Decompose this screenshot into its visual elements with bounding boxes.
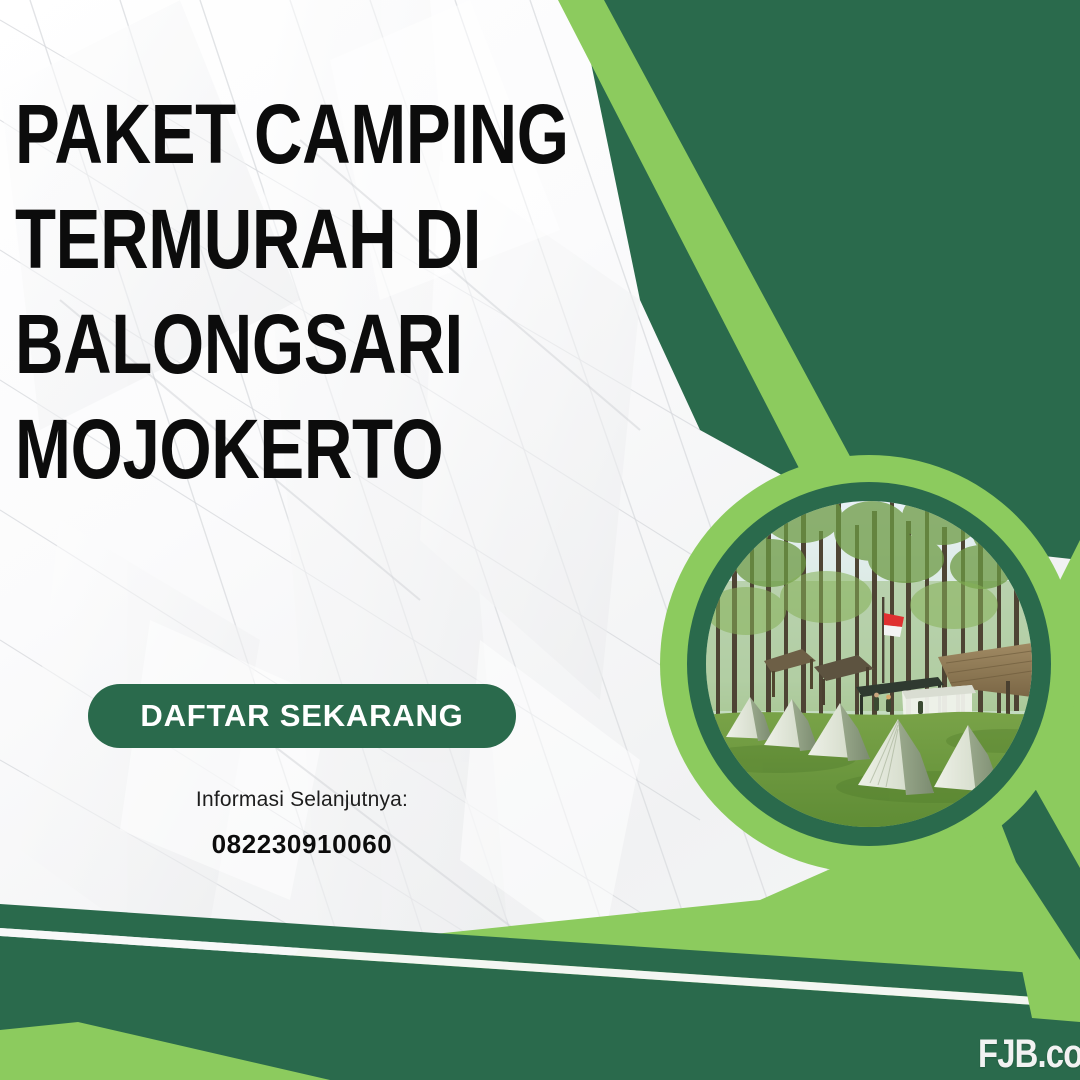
headline-line-1: PAKET CAMPING (15, 82, 439, 187)
contact-label: Informasi Selanjutnya: (88, 788, 516, 812)
contact-block: Informasi Selanjutnya: 082230910060 (88, 788, 516, 860)
camping-photo-circle (660, 455, 1078, 873)
headline-line-3: BALONGSARI (15, 292, 439, 397)
contact-phone-number[interactable]: 082230910060 (88, 829, 516, 860)
camping-scene-illustration (706, 501, 1032, 827)
brand-logo[interactable]: FJB.co (978, 1034, 1080, 1074)
poster-canvas: PAKET CAMPING TERMURAH DI BALONGSARI MOJ… (0, 0, 1080, 1080)
camping-photo (706, 501, 1032, 827)
register-now-button[interactable]: DAFTAR SEKARANG (88, 684, 516, 748)
headline-line-2: TERMURAH DI (15, 187, 439, 292)
page-title: PAKET CAMPING TERMURAH DI BALONGSARI MOJ… (15, 82, 439, 502)
headline-line-4: MOJOKERTO (15, 397, 439, 502)
